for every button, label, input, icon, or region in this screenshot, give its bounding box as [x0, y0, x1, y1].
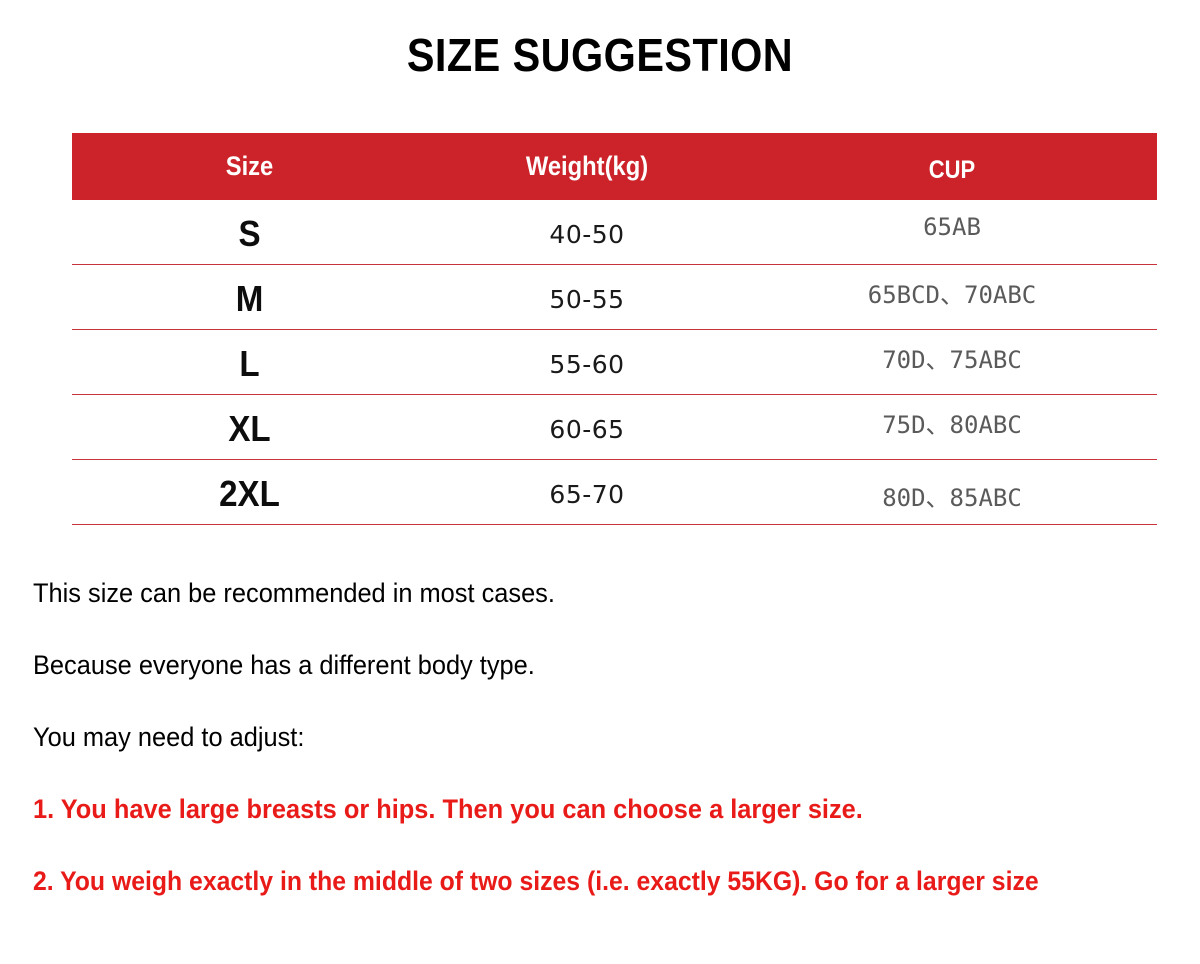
note-line-5: 2. You weigh exactly in the middle of tw… — [33, 861, 1118, 933]
column-header-size: Size — [93, 151, 405, 182]
table-row: 2XL 65-70 80D、85ABC — [72, 460, 1157, 525]
size-chart-page: SIZE SUGGESTION Size Weight(kg) CUP S 40… — [0, 0, 1200, 964]
note-line-1: This size can be recommended in most cas… — [33, 573, 1123, 645]
cell-size: 2XL — [86, 473, 413, 515]
cell-weight: 40-50 — [427, 220, 747, 249]
table-row: L 55-60 70D、75ABC — [72, 330, 1157, 395]
note-line-2: Because everyone has a different body ty… — [33, 645, 1123, 717]
cell-weight: 65-70 — [427, 480, 747, 509]
column-header-weight: Weight(kg) — [446, 151, 728, 182]
table-row: S 40-50 65AB — [72, 200, 1157, 265]
table-header-row: Size Weight(kg) CUP — [72, 133, 1157, 200]
cell-weight: 60-65 — [427, 415, 747, 444]
notes-section: This size can be recommended in most cas… — [33, 573, 1193, 933]
cell-size: S — [86, 213, 413, 255]
size-suggestion-table: Size Weight(kg) CUP S 40-50 65AB M 50-55… — [72, 133, 1157, 525]
cell-cup: 65AB — [747, 213, 1157, 241]
cell-size: M — [86, 278, 413, 320]
cell-weight: 55-60 — [427, 350, 747, 379]
cell-cup: 75D、80ABC — [747, 405, 1157, 440]
cell-weight: 50-55 — [427, 285, 747, 314]
cell-size: XL — [86, 408, 413, 450]
cell-cup: 65BCD、70ABC — [747, 275, 1157, 310]
cell-cup: 80D、85ABC — [747, 478, 1157, 513]
table-row: M 50-55 65BCD、70ABC — [72, 265, 1157, 330]
table-row: XL 60-65 75D、80ABC — [72, 395, 1157, 460]
column-header-cup: CUP — [772, 156, 1133, 185]
page-title: SIZE SUGGESTION — [60, 28, 1140, 82]
note-line-4: 1. You have large breasts or hips. Then … — [33, 789, 1123, 861]
cell-cup: 70D、75ABC — [747, 340, 1157, 375]
cell-size: L — [86, 343, 413, 385]
note-line-3: You may need to adjust: — [33, 717, 1123, 789]
